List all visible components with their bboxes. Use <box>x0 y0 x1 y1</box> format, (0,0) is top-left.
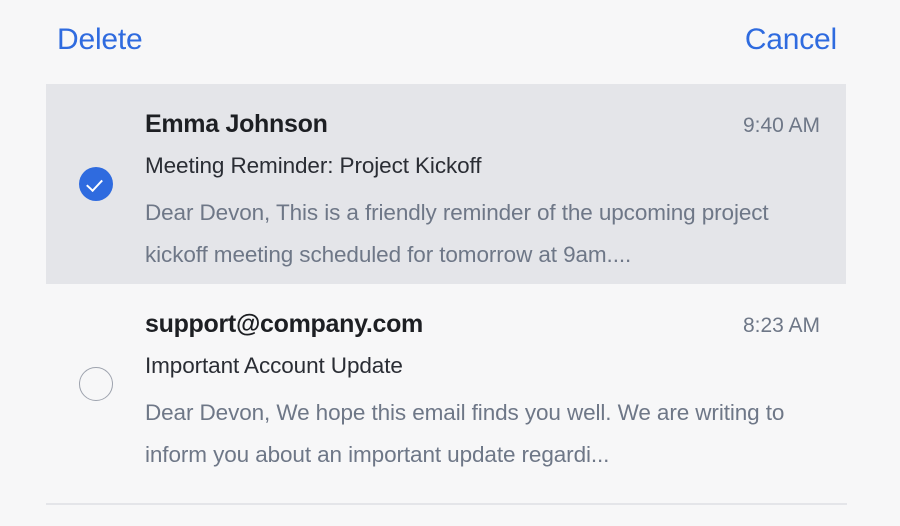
message-subject: Meeting Reminder: Project Kickoff <box>145 152 820 180</box>
message-content: Emma Johnson 9:40 AM Meeting Reminder: P… <box>145 84 846 276</box>
delete-button[interactable]: Delete <box>57 20 143 60</box>
message-sender: Emma Johnson <box>145 108 328 140</box>
message-time: 8:23 AM <box>743 311 820 341</box>
circle-outline-icon[interactable] <box>79 367 113 401</box>
message-time: 9:40 AM <box>743 111 820 141</box>
selection-toolbar: Delete Cancel <box>0 0 900 84</box>
message-preview: Dear Devon, This is a friendly reminder … <box>145 192 805 276</box>
selection-checkbox-cell[interactable] <box>46 284 145 484</box>
list-divider <box>46 503 847 505</box>
message-preview: Dear Devon, We hope this email finds you… <box>145 392 805 476</box>
message-sender: support@company.com <box>145 308 423 340</box>
mail-selection-screen: Delete Cancel Emma Johnson 9:40 AM Meeti… <box>0 0 900 526</box>
message-list: Emma Johnson 9:40 AM Meeting Reminder: P… <box>0 84 900 484</box>
message-header-line: Emma Johnson 9:40 AM <box>145 108 820 141</box>
check-circle-filled-icon[interactable] <box>79 167 113 201</box>
cancel-button[interactable]: Cancel <box>745 20 837 60</box>
selection-checkbox-cell[interactable] <box>46 84 145 284</box>
message-content: support@company.com 8:23 AM Important Ac… <box>145 284 846 476</box>
message-list-item[interactable]: Emma Johnson 9:40 AM Meeting Reminder: P… <box>46 84 846 284</box>
message-header-line: support@company.com 8:23 AM <box>145 308 820 341</box>
message-subject: Important Account Update <box>145 352 820 380</box>
message-list-item[interactable]: support@company.com 8:23 AM Important Ac… <box>46 284 846 484</box>
